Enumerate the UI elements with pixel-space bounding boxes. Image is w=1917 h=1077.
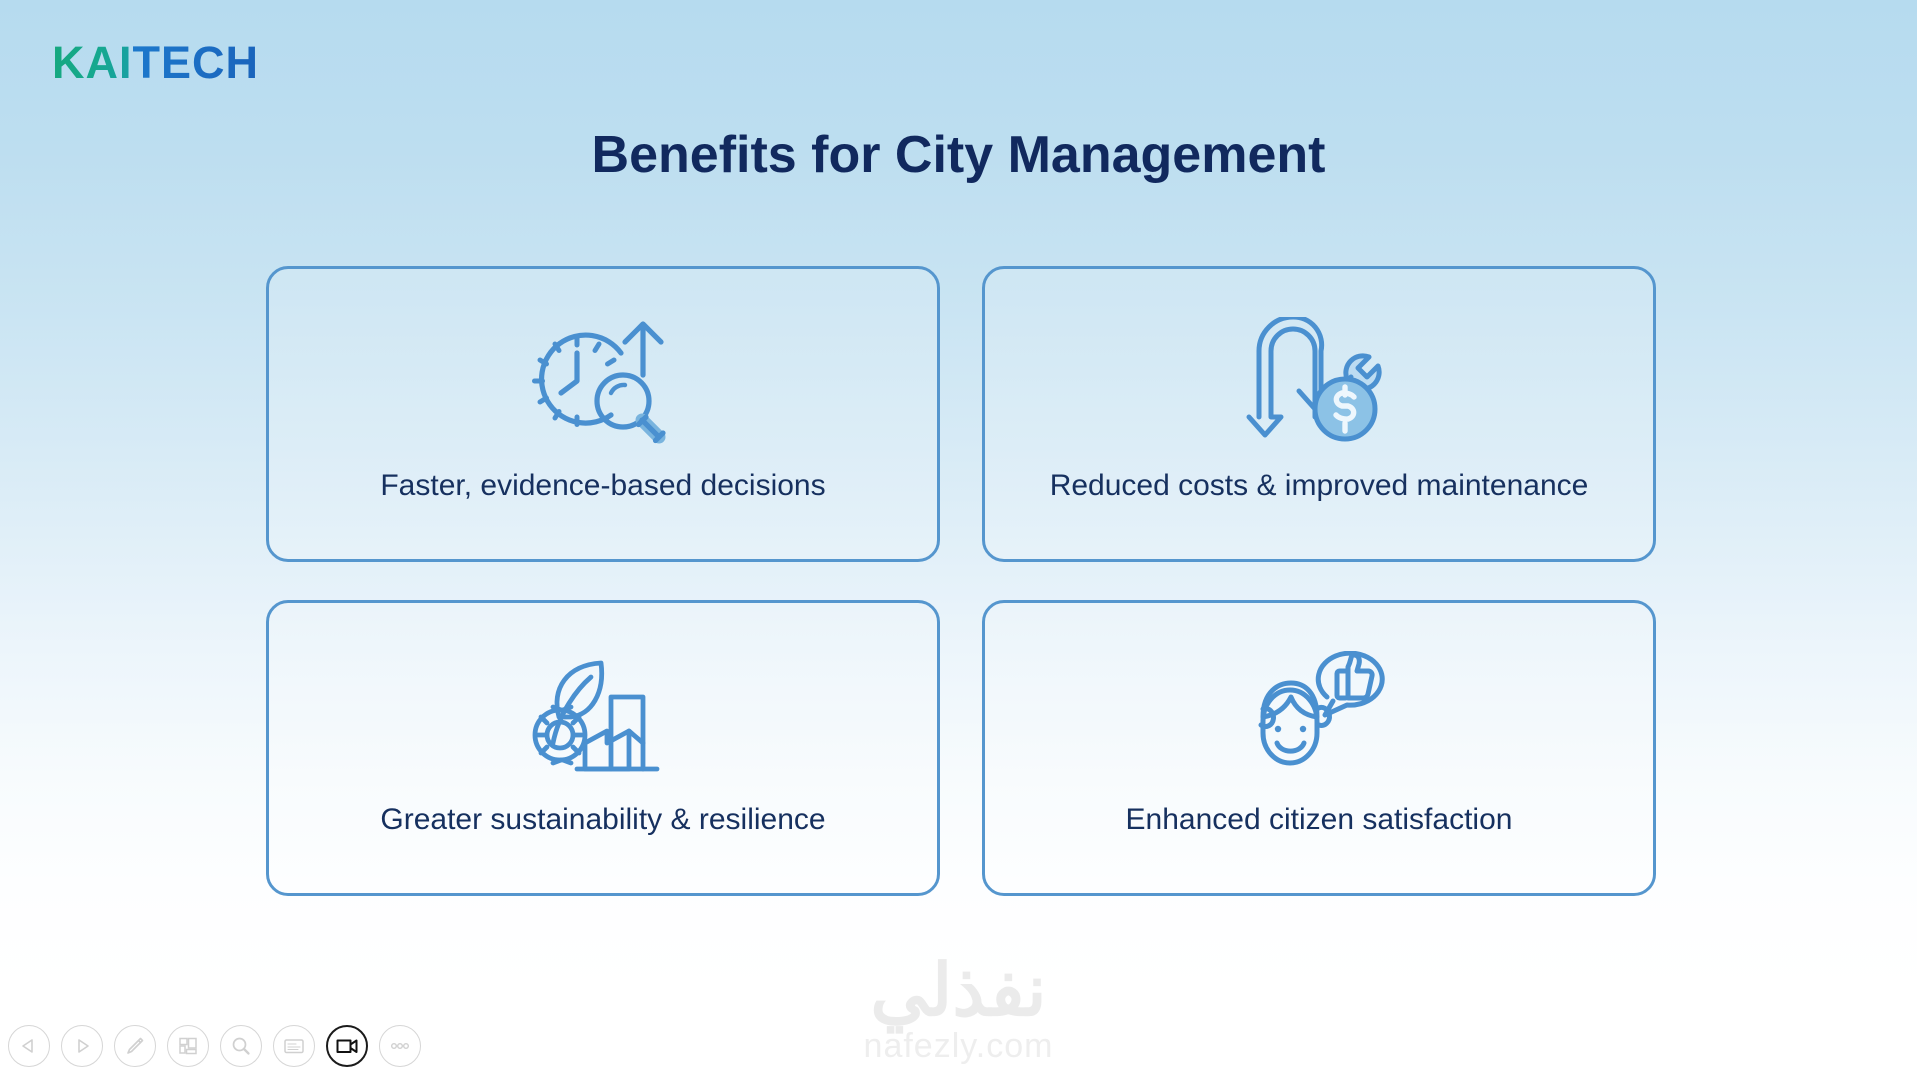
benefit-card-label: Reduced costs & improved maintenance	[1050, 468, 1589, 504]
watermark-arabic-text: نفذلي	[0, 955, 1917, 1027]
slide-canvas: KAITECH Benefits for City Management	[0, 0, 1917, 1077]
presentation-toolbar	[8, 1025, 421, 1067]
page-title: Benefits for City Management	[0, 125, 1917, 185]
kaitech-logo: KAITECH	[52, 40, 259, 85]
clock-magnifier-arrow-icon	[525, 316, 681, 446]
smiling-face-thumbs-up-icon	[1241, 650, 1397, 780]
next-slide-button[interactable]	[61, 1025, 103, 1067]
logo-text-tech: TECH	[133, 40, 260, 85]
record-video-button[interactable]	[326, 1025, 368, 1067]
zoom-button[interactable]	[220, 1025, 262, 1067]
benefit-card-faster-decisions[interactable]: Faster, evidence-based decisions	[266, 266, 940, 562]
slides-grid-icon	[177, 1035, 199, 1057]
benefit-card-grid: Faster, evidence-based decisions	[266, 266, 1656, 896]
benefit-card-label: Enhanced citizen satisfaction	[1126, 802, 1513, 838]
benefit-card-citizen-satisfaction[interactable]: Enhanced citizen satisfaction	[982, 600, 1656, 896]
pen-icon	[124, 1035, 146, 1057]
more-options-button[interactable]	[379, 1025, 421, 1067]
down-arrows-wrench-dollar-icon	[1241, 316, 1397, 446]
gear-leaf-factory-icon	[525, 650, 681, 780]
magnifier-icon	[230, 1035, 252, 1057]
more-dots-icon	[388, 1041, 412, 1051]
notes-button[interactable]	[273, 1025, 315, 1067]
logo-text-kai: KAI	[52, 40, 133, 85]
next-triangle-icon	[72, 1036, 92, 1056]
previous-slide-button[interactable]	[8, 1025, 50, 1067]
all-slides-button[interactable]	[167, 1025, 209, 1067]
benefit-card-label: Greater sustainability & resilience	[380, 802, 825, 838]
benefit-card-label: Faster, evidence-based decisions	[380, 468, 825, 504]
video-camera-icon	[335, 1036, 359, 1056]
benefit-card-reduced-costs[interactable]: Reduced costs & improved maintenance	[982, 266, 1656, 562]
previous-triangle-icon	[19, 1036, 39, 1056]
benefit-card-sustainability[interactable]: Greater sustainability & resilience	[266, 600, 940, 896]
notes-icon	[282, 1035, 306, 1057]
pen-tool-button[interactable]	[114, 1025, 156, 1067]
